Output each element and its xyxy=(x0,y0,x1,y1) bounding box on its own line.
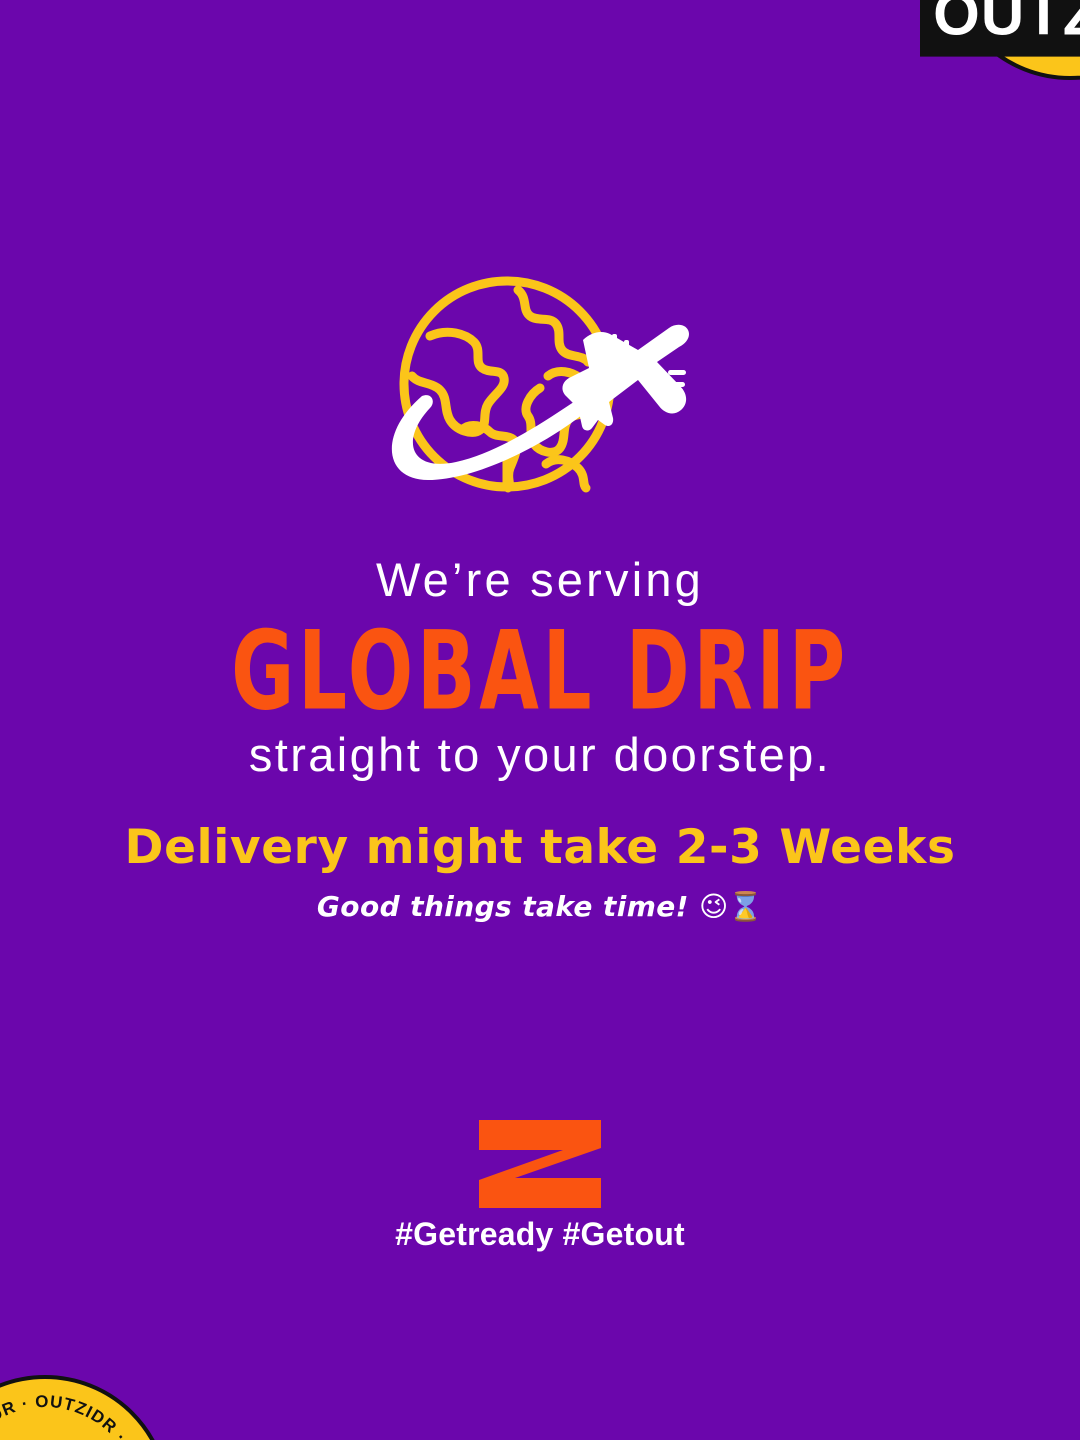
headline-line-2: GLOBAL DRIP xyxy=(38,613,1042,730)
svg-text:OUTZIDR · OUTZIDR · OUTZIDR ·: OUTZIDR · OUTZIDR · OUTZIDR · OUTZIDR · xyxy=(0,1392,153,1440)
globe-airplane-icon xyxy=(370,272,710,504)
delivery-emoji: 😉⌛ xyxy=(699,890,763,923)
corner-badge-bottom-left: OUTZIDR · OUTZIDR · OUTZIDR · OUTZIDR · … xyxy=(0,1375,170,1440)
headline-line-3: straight to your doorstep. xyxy=(0,727,1080,782)
footer-hashtags: #Getready #Getout xyxy=(0,1216,1080,1253)
delivery-subtext-row: Good things take time! 😉⌛ xyxy=(0,890,1080,923)
badge-ring-label: OUTZIDR · OUTZIDR · OUTZIDR · OUTZIDR · xyxy=(0,1392,153,1440)
delivery-subtext: Good things take time! xyxy=(317,890,689,923)
promo-poster: OUTZIDR · OUTZIDR · OUTZIDR · OUTZIDR · … xyxy=(0,0,1080,1440)
outzidr-z-logo-icon xyxy=(479,1120,601,1208)
globe-plane-illustration xyxy=(0,272,1080,504)
badge-core-top-right: OUTZIDR xyxy=(920,0,1080,57)
badge-ring-text-bottom-left: OUTZIDR · OUTZIDR · OUTZIDR · OUTZIDR · xyxy=(0,1379,166,1440)
corner-badge-top-right: OUTZIDR · OUTZIDR · OUTZIDR · OUTZIDR · … xyxy=(945,0,1080,80)
headline-line-1: We’re serving xyxy=(0,552,1080,607)
delivery-headline: Delivery might take 2-3 Weeks xyxy=(0,820,1080,876)
headline-block: We’re serving GLOBAL DRIP straight to yo… xyxy=(0,552,1080,782)
airplane-icon xyxy=(562,325,689,431)
delivery-notice-block: Delivery might take 2-3 Weeks Good thing… xyxy=(0,820,1080,923)
footer-block: #Getready #Getout xyxy=(0,1120,1080,1253)
badge-wordmark-top-right: OUTZIDR xyxy=(920,0,1080,57)
